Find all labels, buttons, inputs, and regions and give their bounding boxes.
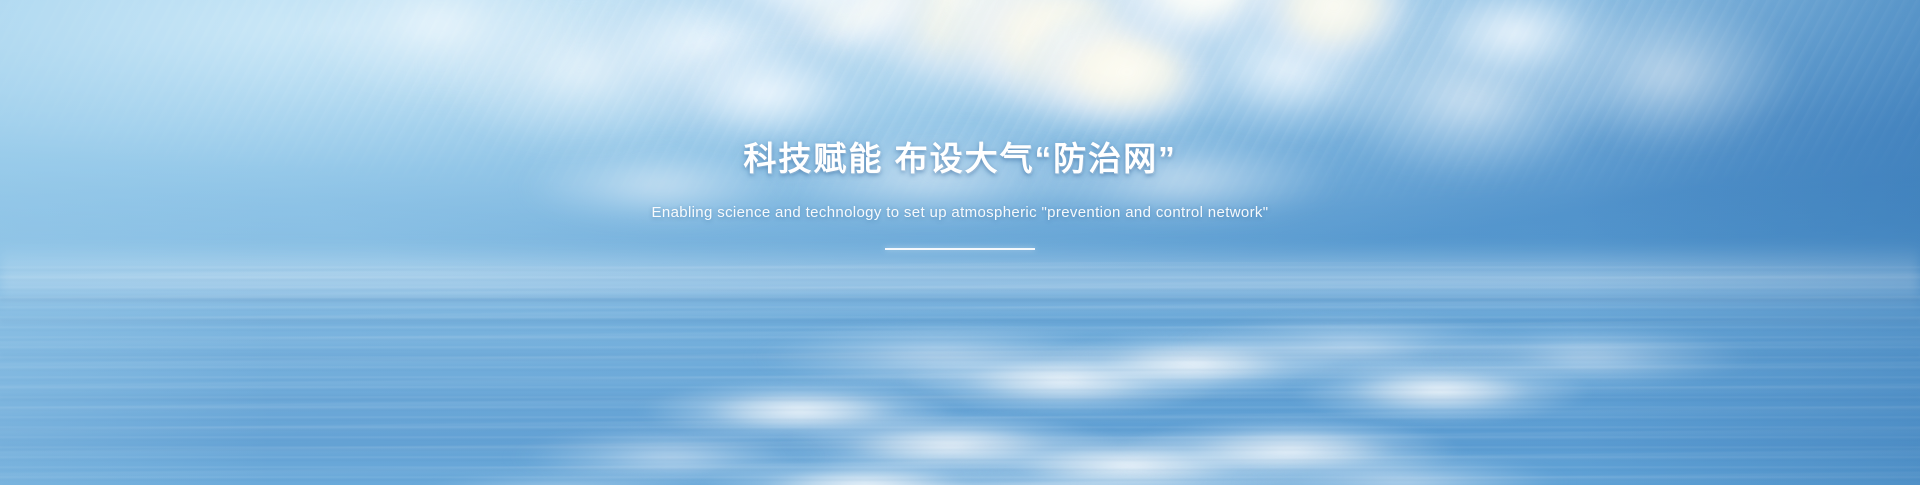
hero-content: 科技赋能 布设大气“防治网” Enabling science and tech…: [0, 0, 1920, 485]
hero-subtitle: Enabling science and technology to set u…: [652, 203, 1269, 223]
hero-title: 科技赋能 布设大气“防治网”: [743, 140, 1176, 178]
hero-banner: 科技赋能 布设大气“防治网” Enabling science and tech…: [0, 0, 1920, 485]
hero-divider: [885, 248, 1035, 250]
